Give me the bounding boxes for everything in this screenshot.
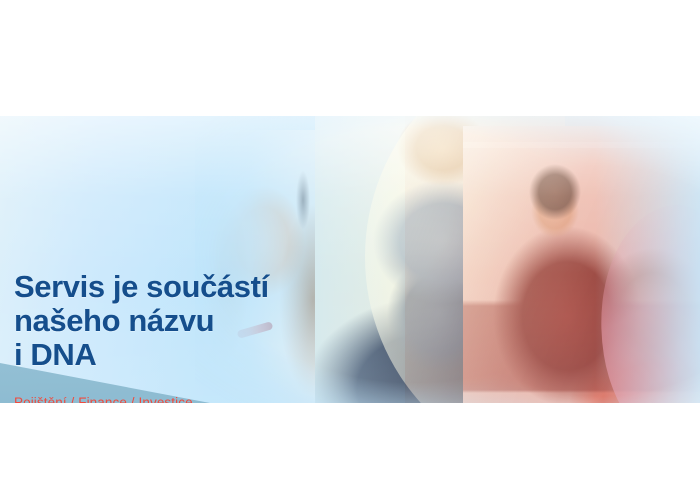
headline-line-2: našeho názvu [14,304,324,338]
banner-subtitle: Pojištění / Finance / Investice [14,394,324,403]
headline-line-1: Servis je součástí [14,270,324,304]
insurance-hero-banner: Servis je součástí našeho názvu i DNA Po… [0,116,700,403]
advisor-meeting-photo [463,126,700,403]
headline-line-3: i DNA [14,338,324,372]
page-title: Servis je součástí našeho názvu i DNA [14,270,324,372]
banner-copy: Servis je součástí našeho názvu i DNA Po… [14,270,324,403]
